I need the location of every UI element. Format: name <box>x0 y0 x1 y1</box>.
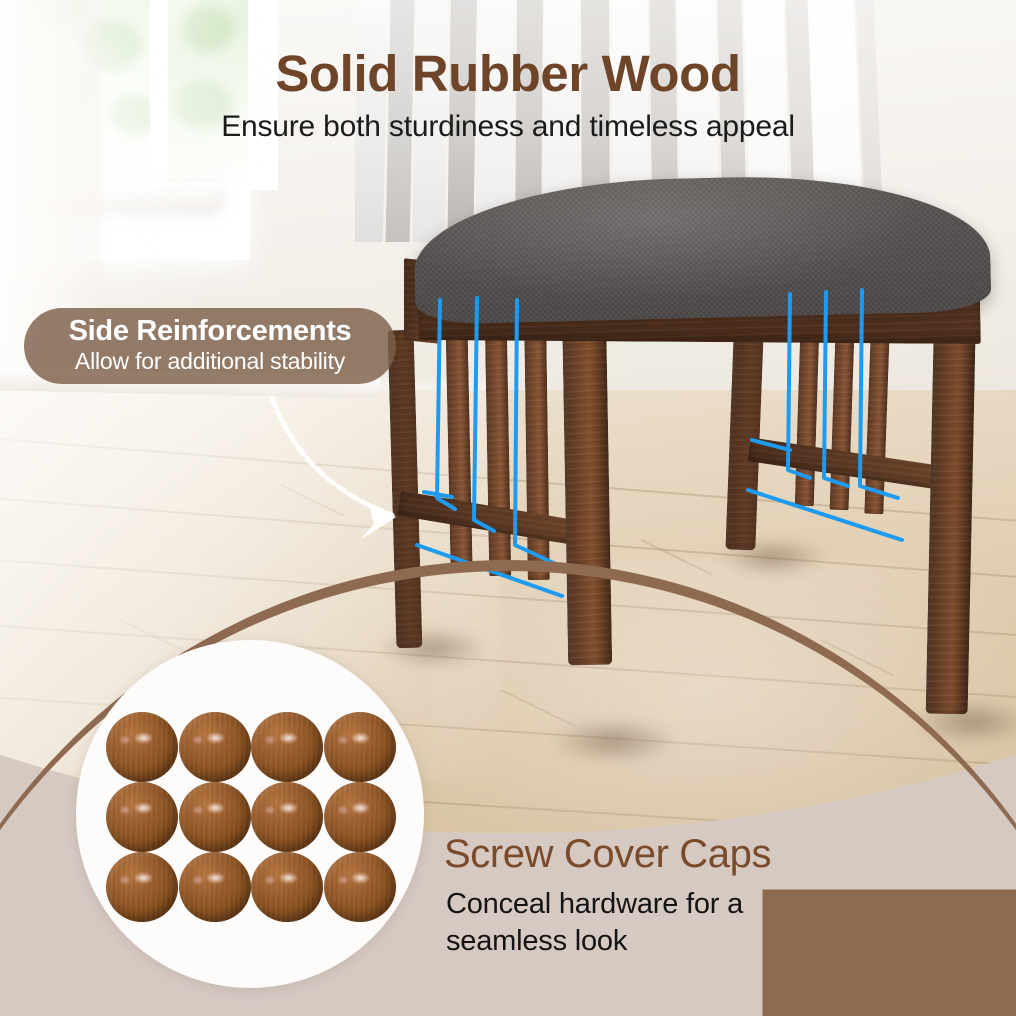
cap-wood-grain <box>251 712 323 782</box>
cap-wood-grain <box>106 782 178 852</box>
badge-subtitle: Allow for additional stability <box>75 348 345 374</box>
screw-cover-cap <box>106 852 178 922</box>
screw-cover-cap <box>324 782 396 852</box>
screw-cover-cap <box>179 852 251 922</box>
screw-cover-cap <box>251 712 323 782</box>
stool-slat <box>485 320 511 576</box>
side-reinforcements-badge: Side Reinforcements Allow for additional… <box>24 308 396 384</box>
stool-slat <box>445 318 472 570</box>
screw-cover-cap <box>179 712 251 782</box>
cap-wood-grain <box>324 852 396 922</box>
stool-seat-cushion <box>412 171 991 325</box>
badge-title: Side Reinforcements <box>69 316 352 346</box>
cushion-fabric-texture <box>412 171 991 325</box>
product-feature-image: Solid Rubber Wood Ensure both sturdiness… <box>0 0 1016 1016</box>
stool-leg-back-left <box>388 330 423 649</box>
screw-cover-cap <box>324 852 396 922</box>
cap-wood-grain <box>179 852 251 922</box>
screw-cover-cap <box>251 852 323 922</box>
stool-leg-front-left <box>562 300 612 666</box>
screw-cover-cap <box>179 782 251 852</box>
leg-shadow <box>378 628 488 668</box>
screw-cover-cap <box>106 712 178 782</box>
cap-wood-grain <box>324 712 396 782</box>
stool-leg-back-right <box>725 308 764 551</box>
cap-wood-grain <box>324 782 396 852</box>
caps-desc-line-1: Conceal hardware for a <box>446 886 876 923</box>
screw-cover-cap <box>324 712 396 782</box>
cap-wood-grain <box>106 852 178 922</box>
screw-cover-cap <box>106 782 178 852</box>
cap-wood-grain <box>251 782 323 852</box>
cap-wood-grain <box>251 852 323 922</box>
caps-feature-title: Screw Cover Caps <box>444 832 771 877</box>
cap-wood-grain <box>106 712 178 782</box>
leg-shadow <box>548 718 678 764</box>
caps-grid <box>106 712 396 922</box>
page-title: Solid Rubber Wood <box>0 44 1016 103</box>
cap-wood-grain <box>179 782 251 852</box>
cap-wood-grain <box>179 712 251 782</box>
caps-feature-description: Conceal hardware for a seamless look <box>446 886 876 960</box>
stool-slat <box>524 322 550 580</box>
caps-desc-line-2: seamless look <box>446 923 876 960</box>
screw-cover-caps-inset <box>76 640 424 988</box>
stool-leg-front-right <box>926 296 977 715</box>
screw-cover-cap <box>251 782 323 852</box>
page-subtitle: Ensure both sturdiness and timeless appe… <box>0 110 1016 144</box>
